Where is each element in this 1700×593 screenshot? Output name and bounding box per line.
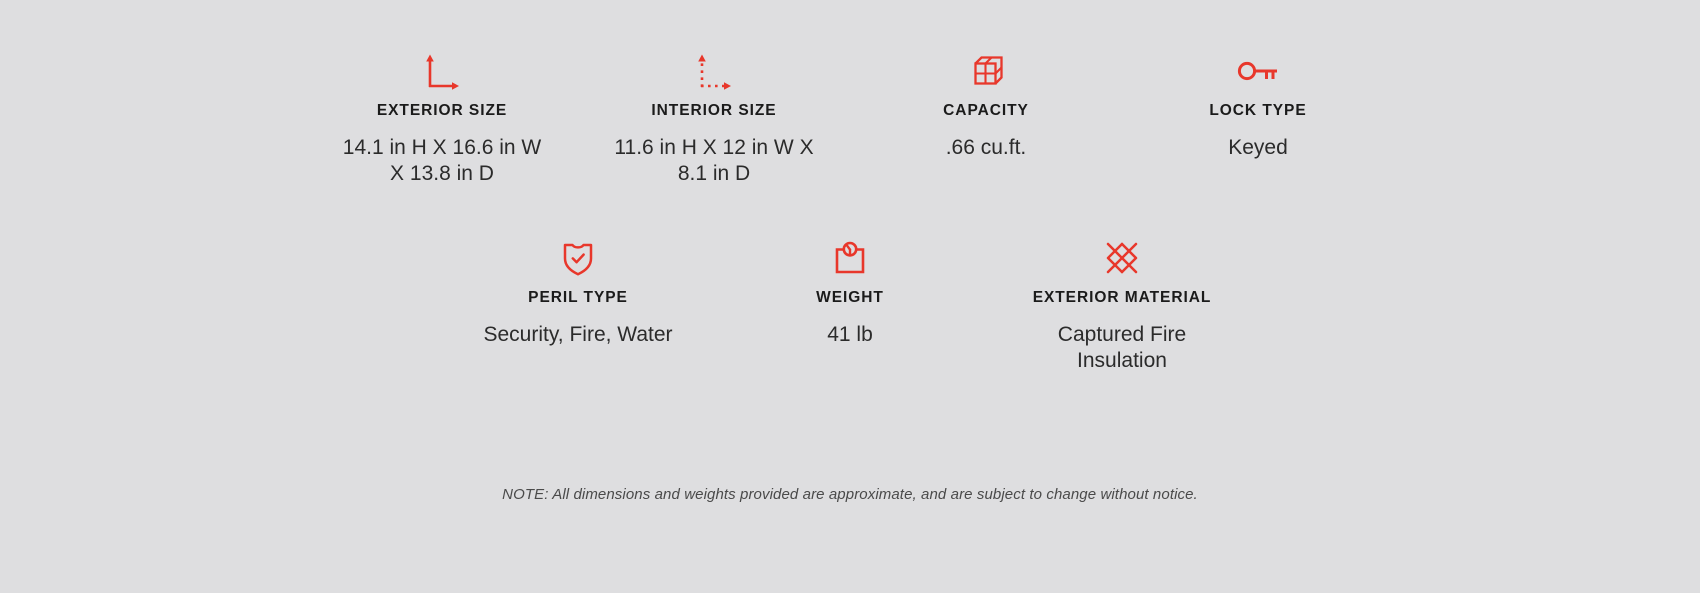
spec-value: 14.1 in H X 16.6 in W X 13.8 in D — [335, 135, 550, 187]
spec-label: WEIGHT — [816, 289, 884, 306]
spec-value: Captured Fire Insulation — [1015, 322, 1230, 374]
woven-material-icon — [1104, 239, 1140, 277]
spec-item-weight: WEIGHT 41 lb — [714, 239, 986, 348]
spec-label: EXTERIOR SIZE — [377, 102, 507, 119]
spec-item-capacity: CAPACITY .66 cu.ft. — [850, 52, 1122, 161]
spec-value: 41 lb — [827, 322, 873, 348]
spec-item-lock-type: LOCK TYPE Keyed — [1122, 52, 1394, 161]
spec-value: 11.6 in H X 12 in W X 8.1 in D — [607, 135, 822, 187]
spec-label: EXTERIOR MATERIAL — [1033, 289, 1212, 306]
spec-item-exterior-size: EXTERIOR SIZE 14.1 in H X 16.6 in W X 13… — [306, 52, 578, 187]
interior-dimension-dashed-axis-icon — [694, 52, 734, 90]
spec-value: Security, Fire, Water — [483, 322, 672, 348]
spec-item-peril-type: PERIL TYPE Security, Fire, Water — [442, 239, 714, 348]
weight-scale-icon — [834, 239, 866, 277]
spec-value: Keyed — [1228, 135, 1288, 161]
spec-label: INTERIOR SIZE — [651, 102, 776, 119]
spec-label: LOCK TYPE — [1209, 102, 1306, 119]
exterior-dimension-axis-icon — [422, 52, 462, 90]
disclaimer-note: NOTE: All dimensions and weights provide… — [0, 486, 1700, 503]
spec-value: .66 cu.ft. — [946, 135, 1027, 161]
key-icon — [1236, 52, 1280, 90]
shield-check-icon — [562, 239, 594, 277]
spec-row-primary: EXTERIOR SIZE 14.1 in H X 16.6 in W X 13… — [0, 52, 1700, 187]
spec-item-exterior-material: EXTERIOR MATERIAL Captured Fire Insulati… — [986, 239, 1258, 374]
spec-row-secondary: PERIL TYPE Security, Fire, Water WEIGHT … — [0, 239, 1700, 374]
spec-label: PERIL TYPE — [528, 289, 628, 306]
spec-item-interior-size: INTERIOR SIZE 11.6 in H X 12 in W X 8.1 … — [578, 52, 850, 187]
cube-volume-icon — [969, 52, 1003, 90]
spec-label: CAPACITY — [943, 102, 1029, 119]
product-specifications-panel: EXTERIOR SIZE 14.1 in H X 16.6 in W X 13… — [0, 0, 1700, 593]
